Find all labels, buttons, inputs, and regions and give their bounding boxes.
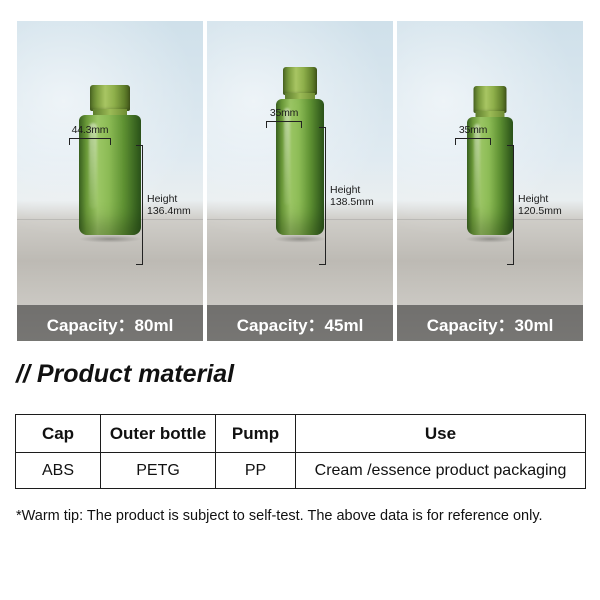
height-label-line2: 138.5mm [330,196,374,208]
product-photo-30ml: 35mm Height 120.5mm Capacity：30ml [397,21,583,341]
section-heading-product-material: // Product material [16,360,234,389]
product-photo-45ml: 35mm Height 138.5mm Capacity：45ml [207,21,393,341]
table-header-use: Use [296,415,586,453]
diameter-label: 35mm [459,124,487,136]
height-label-line1: Height [518,193,548,205]
capacity-caption-30ml: Capacity：30ml [397,305,583,341]
diameter-caliper-icon [69,138,111,145]
height-label: Height 136.4mm [147,193,191,217]
table-cell-pump-material: PP [216,453,296,489]
bottle-cap [90,85,130,111]
capacity-label: Capacity：45ml [237,311,364,336]
capacity-label: Capacity：80ml [47,311,174,336]
capacity-caption-45ml: Capacity：45ml [207,305,393,341]
bottle-image-80ml [75,95,145,235]
table-cell-cap-material: ABS [16,453,101,489]
height-caliper-icon [319,127,326,265]
diameter-label: 44.3mm [72,124,109,136]
height-caliper-icon [136,145,143,265]
height-label: Height 138.5mm [330,184,374,208]
table-row: ABS PETG PP Cream /essence product packa… [16,453,586,489]
diameter-label: 35mm [270,107,298,119]
material-table: Cap Outer bottle Pump Use ABS PETG PP Cr… [15,414,586,489]
table-header-outer-bottle: Outer bottle [101,415,216,453]
table-header-row: Cap Outer bottle Pump Use [16,415,586,453]
capacity-caption-80ml: Capacity：80ml [17,305,203,341]
product-photo-strip: 44.3mm Height 136.4mm Capacity：80ml [17,21,583,341]
height-caliper-icon [507,145,514,265]
height-label: Height 120.5mm [518,193,562,217]
height-dimension-30ml: Height 120.5mm [507,145,562,265]
height-label-line1: Height [147,193,177,205]
capacity-label: Capacity：30ml [427,311,554,336]
diameter-dimension-45ml: 35mm [266,107,302,128]
product-spec-sheet: 44.3mm Height 136.4mm Capacity：80ml [0,0,600,600]
table-header-cap: Cap [16,415,101,453]
height-label-line2: 136.4mm [147,205,191,217]
table-cell-outer-bottle-material: PETG [101,453,216,489]
diameter-dimension-30ml: 35mm [455,124,491,145]
height-dimension-80ml: Height 136.4mm [136,145,191,265]
product-photo-80ml: 44.3mm Height 136.4mm Capacity：80ml [17,21,203,341]
warm-tip-footnote: *Warm tip: The product is subject to sel… [16,508,543,524]
table-cell-use: Cream /essence product packaging [296,453,586,489]
diameter-dimension-80ml: 44.3mm [69,124,111,145]
height-label-line1: Height [330,184,360,196]
table-header-pump: Pump [216,415,296,453]
height-label-line2: 120.5mm [518,205,562,217]
diameter-caliper-icon [455,138,491,145]
height-dimension-45ml: Height 138.5mm [319,127,374,265]
bottle-cap [474,86,507,113]
bottle-cap [283,67,317,95]
diameter-caliper-icon [266,121,302,128]
